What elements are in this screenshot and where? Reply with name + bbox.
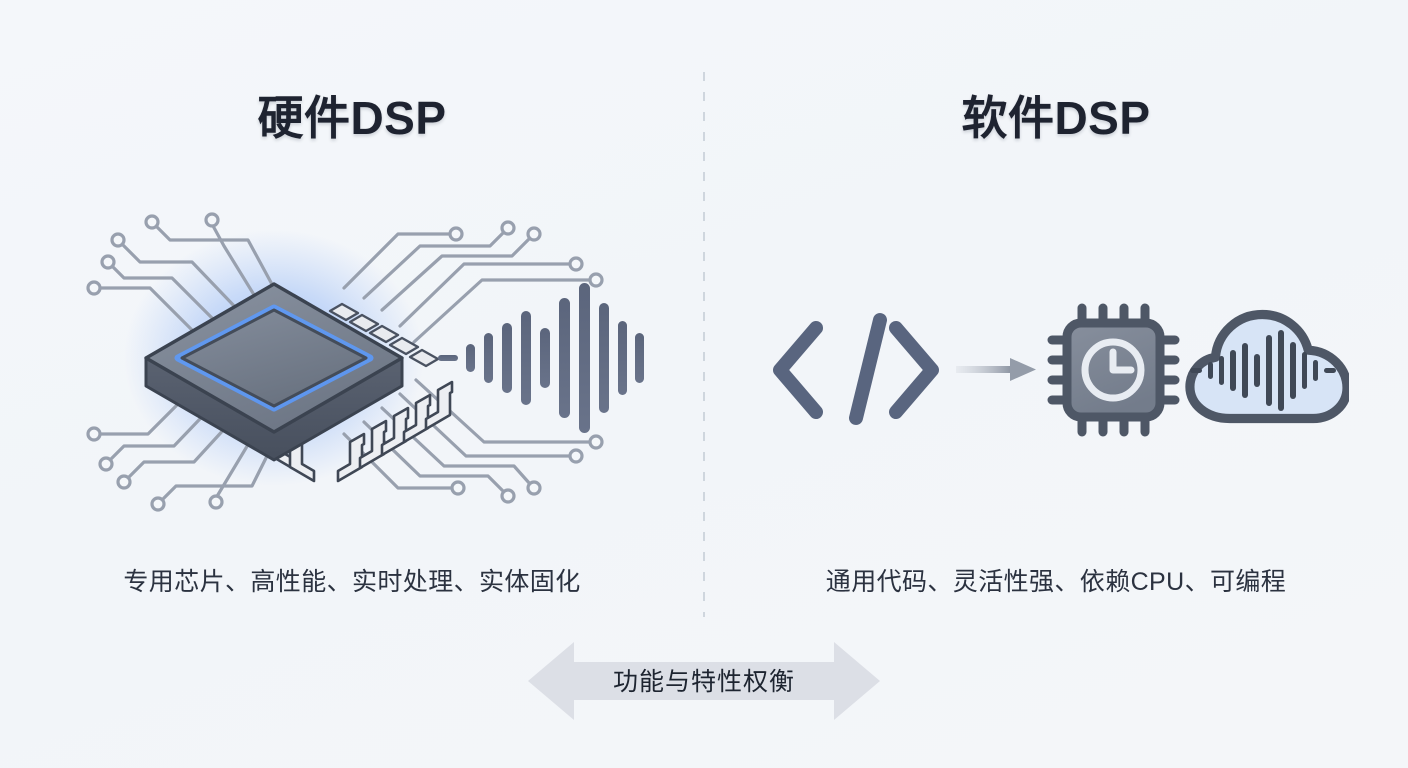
- software-dsp-pipeline: [764, 290, 1349, 450]
- right-column-caption: 通用代码、灵活性强、依赖CPU、可编程: [704, 562, 1408, 598]
- tradeoff-banner: 功能与特性权衡: [528, 638, 880, 724]
- audio-waveform: [438, 283, 652, 433]
- right-column-title: 软件DSP: [704, 82, 1408, 148]
- cpu-clock-icon: [1052, 308, 1175, 432]
- left-column-title: 硬件DSP: [0, 82, 704, 148]
- left-column-caption: 专用芯片、高性能、实时处理、实体固化: [0, 562, 704, 598]
- comparison-diagram: 硬件DSP: [0, 0, 1408, 768]
- tradeoff-banner-label: 功能与特性权衡: [528, 638, 880, 724]
- arrow-right-icon-1: [956, 358, 1036, 381]
- code-brackets-icon: [780, 320, 932, 418]
- cloud-waveform-icon: [1190, 314, 1347, 418]
- dsp-chip-illustration: [52, 190, 652, 530]
